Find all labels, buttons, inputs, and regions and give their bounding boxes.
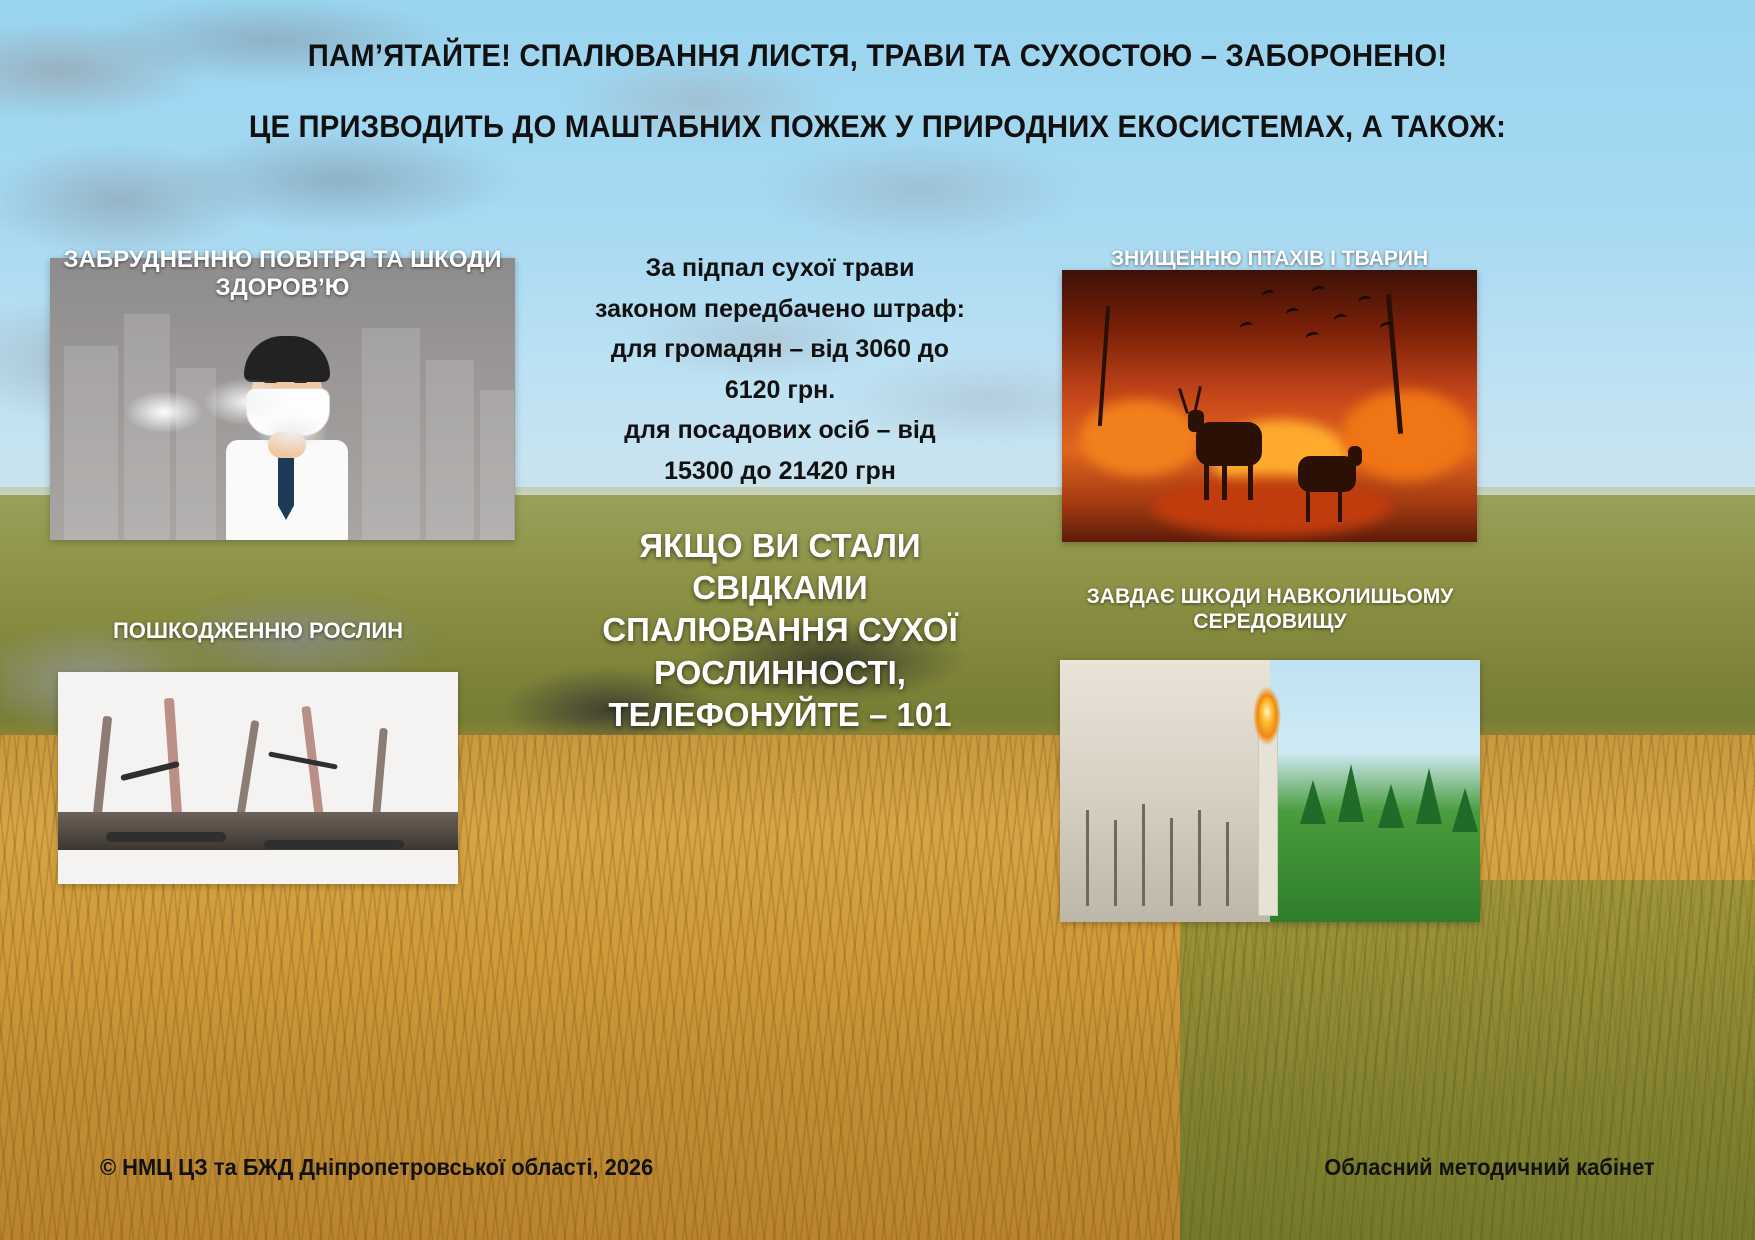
deer-silhouette: [1196, 422, 1262, 466]
emergency-call-block: ЯКЩО ВИ СТАЛИ СВІДКАМИ СПАЛЮВАННЯ СУХОЇ …: [560, 525, 1000, 736]
dead-tree: [1198, 810, 1201, 906]
dead-tree: [1226, 822, 1229, 906]
barren-landscape-half: [1060, 660, 1270, 922]
fine-information-block: За підпал сухої трави законом передбачен…: [545, 248, 1015, 491]
dead-tree: [1142, 804, 1145, 906]
fine-line: законом передбачено штраф:: [545, 289, 1015, 330]
city-building: [64, 346, 118, 540]
burnt-branch: [372, 728, 388, 816]
deer-leg: [1248, 462, 1253, 500]
pine-tree: [1416, 768, 1442, 824]
burnt-branch: [93, 716, 112, 816]
dead-tree: [1086, 810, 1089, 906]
call-line: ЯКЩО ВИ СТАЛИ: [560, 525, 1000, 567]
bird-icon: [1311, 285, 1326, 297]
fine-line: За підпал сухої трави: [545, 248, 1015, 289]
flame-blob: [1342, 390, 1472, 480]
city-building: [480, 390, 514, 540]
label-wildlife-destruction: ЗНИЩЕННЮ ПТАХІВ І ТВАРИН: [1062, 247, 1477, 272]
illustration-wildlife-destruction: [1062, 270, 1477, 542]
bird-icon: [1333, 313, 1348, 325]
city-building: [362, 328, 420, 540]
fine-line: 15300 до 21420 грн: [545, 451, 1015, 492]
illustration-environment-damage: [1060, 660, 1480, 922]
charred-log: [106, 832, 226, 842]
illustration-plant-damage: [58, 672, 458, 884]
burnt-branch: [164, 698, 182, 816]
charred-log: [264, 840, 404, 849]
matchstick: [1258, 730, 1278, 916]
copyright-text: © НМЦ ЦЗ та БЖД Дніпропетровської област…: [100, 1154, 653, 1181]
footer-bar: © НМЦ ЦЗ та БЖД Дніпропетровської област…: [0, 1130, 1755, 1240]
label-environment-damage: ЗАВДАЄ ШКОДИ НАВКОЛИШЬОМУ СЕРЕДОВИЩУ: [1040, 585, 1500, 635]
fine-line: для громадян – від 3060 до: [545, 329, 1015, 370]
call-line: РОСЛИННОСТІ,: [560, 652, 1000, 694]
burnt-branch: [237, 720, 260, 816]
bird-icon: [1261, 289, 1276, 301]
bird-icon: [1357, 295, 1372, 307]
poster-canvas: ПАМ’ЯТАЙТЕ! СПАЛЮВАННЯ ЛИСТЯ, ТРАВИ ТА С…: [0, 0, 1755, 1240]
bird-icon: [1239, 321, 1254, 333]
call-line: СПАЛЮВАННЯ СУХОЇ: [560, 609, 1000, 651]
organisation-text: Обласний методичний кабінет: [1325, 1154, 1655, 1181]
deer-leg: [1338, 488, 1342, 522]
deer-leg: [1306, 488, 1310, 522]
cough-smoke-puff: [116, 368, 326, 464]
flame-blob: [1152, 476, 1392, 536]
bird-icon: [1285, 307, 1300, 319]
headline-secondary: ЦЕ ПРИЗВОДИТЬ ДО МАШТАБНИХ ПОЖЕЖ У ПРИРО…: [61, 109, 1693, 144]
headline-primary: ПАМ’ЯТАЙТЕ! СПАЛЮВАННЯ ЛИСТЯ, ТРАВИ ТА С…: [61, 38, 1693, 73]
label-air-pollution: ЗАБРУДНЕННЮ ПОВІТРЯ ТА ШКОДИ ЗДОРОВ’Ю: [50, 246, 515, 303]
fine-line: 6120 грн.: [545, 370, 1015, 411]
label-plant-damage: ПОШКОДЖЕННЮ РОСЛИН: [38, 618, 478, 644]
deer-leg: [1204, 462, 1209, 500]
pine-tree: [1452, 788, 1478, 832]
call-line: СВІДКАМИ: [560, 567, 1000, 609]
city-building: [426, 360, 474, 540]
deer-head: [1348, 446, 1362, 466]
fine-line: для посадових осіб – від: [545, 410, 1015, 451]
headline-group: ПАМ’ЯТАЙТЕ! СПАЛЮВАННЯ ЛИСТЯ, ТРАВИ ТА С…: [0, 38, 1755, 179]
call-line: ТЕЛЕФОНУЙТЕ – 101: [560, 694, 1000, 736]
burnt-twig: [268, 751, 338, 769]
pine-tree: [1300, 780, 1326, 824]
deer-leg: [1222, 462, 1227, 500]
dead-tree: [1170, 818, 1173, 906]
dead-tree: [1114, 820, 1117, 906]
bird-icon: [1305, 331, 1320, 343]
pine-tree: [1378, 784, 1404, 828]
flame-inner-icon: [1256, 686, 1278, 730]
pine-tree: [1338, 764, 1364, 822]
